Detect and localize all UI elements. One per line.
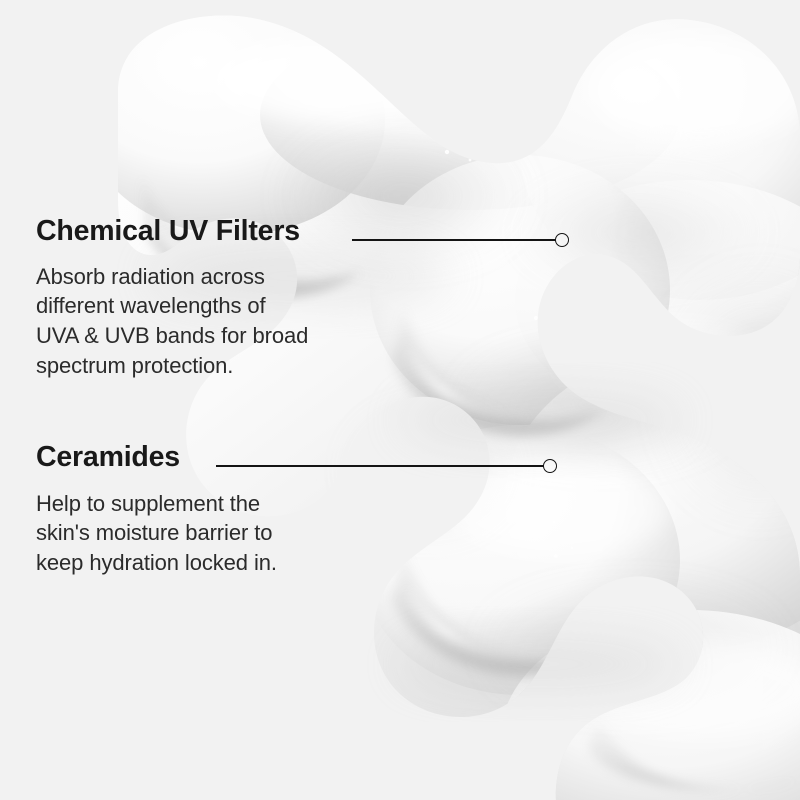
- leader-endpoint-circle-icon: [555, 233, 569, 247]
- callout-body-line: spectrum protection.: [36, 351, 308, 381]
- leader-line-stroke: [352, 239, 556, 241]
- callout-body-line: keep hydration locked in.: [36, 548, 277, 578]
- callout-title-ceramides: Ceramides: [36, 443, 277, 472]
- callout-title-chemical-uv-filters: Chemical UV Filters: [36, 217, 308, 246]
- callout-ceramides: Ceramides Help to supplement the skin's …: [36, 443, 277, 578]
- callout-body-line: different wavelengths of: [36, 291, 308, 321]
- cream-swirl-illustration: [0, 0, 800, 800]
- callout-body-chemical-uv-filters: Absorb radiation across different wavele…: [36, 262, 308, 382]
- callout-body-ceramides: Help to supplement the skin's moisture b…: [36, 489, 277, 579]
- leader-line-chemical-uv-filters: [352, 232, 576, 248]
- product-infographic: Chemical UV Filters Absorb radiation acr…: [0, 0, 800, 800]
- callout-body-line: Absorb radiation across: [36, 262, 308, 292]
- callout-body-line: UVA & UVB bands for broad: [36, 321, 308, 351]
- callout-chemical-uv-filters: Chemical UV Filters Absorb radiation acr…: [36, 217, 308, 381]
- callout-body-line: Help to supplement the: [36, 489, 277, 519]
- callout-body-line: skin's moisture barrier to: [36, 518, 277, 548]
- leader-endpoint-circle-icon: [543, 459, 557, 473]
- cream-body: [0, 0, 800, 800]
